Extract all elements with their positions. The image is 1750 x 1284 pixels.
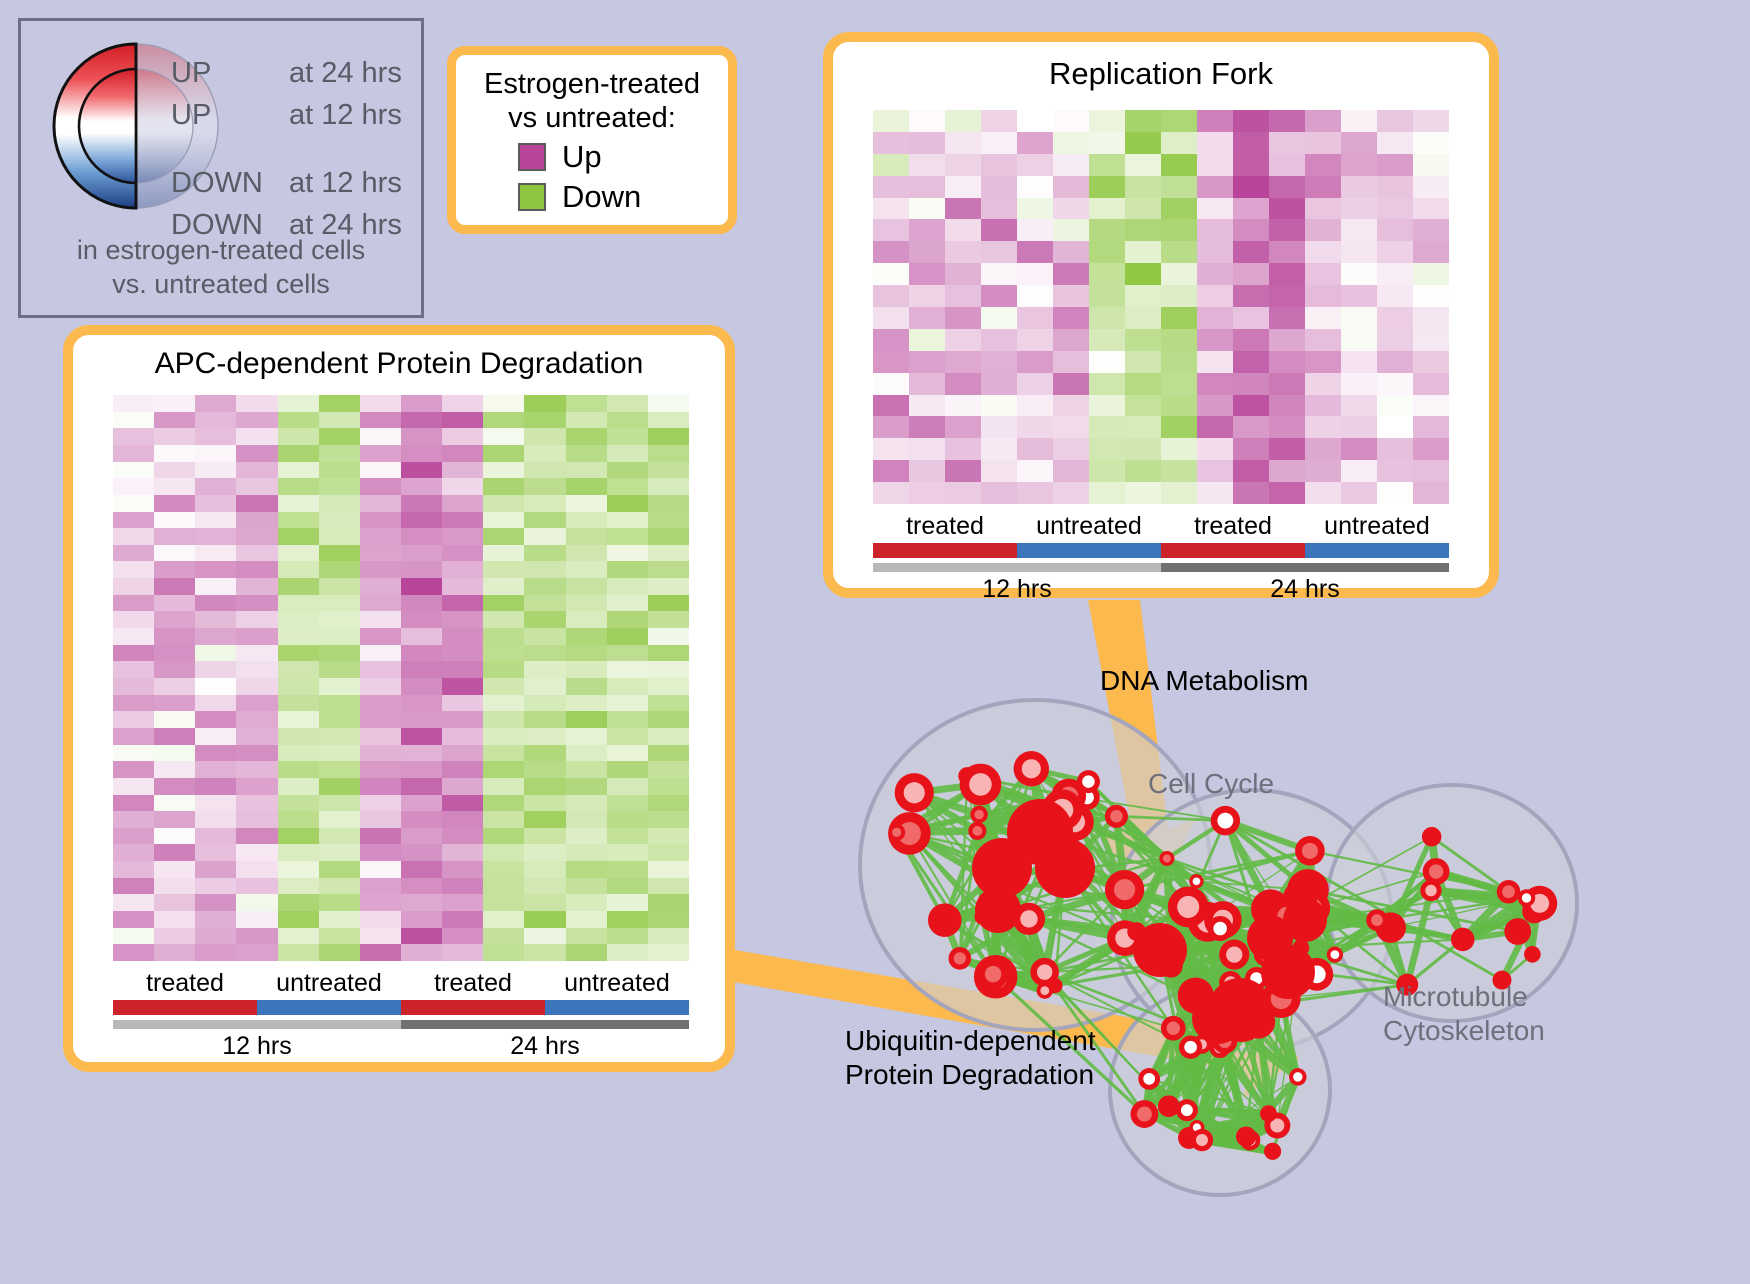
heatmap-cell bbox=[648, 578, 689, 595]
heatmap-cell bbox=[483, 445, 524, 462]
heatmap-cell bbox=[113, 595, 154, 612]
heatmap-cell bbox=[195, 745, 236, 762]
heatmap-cell bbox=[1233, 395, 1269, 417]
heatmap-cell bbox=[1197, 198, 1233, 220]
heatmap-cell bbox=[319, 395, 360, 412]
axis-time-label: 24 hrs bbox=[1161, 575, 1449, 604]
heatmap-cell bbox=[1161, 329, 1197, 351]
heatmap-cell bbox=[319, 778, 360, 795]
heatmap-cell bbox=[483, 678, 524, 695]
heatmap-cell bbox=[360, 661, 401, 678]
heatmap-cell bbox=[360, 412, 401, 429]
heatmap-cell bbox=[442, 878, 483, 895]
heatmap-cell bbox=[401, 711, 442, 728]
heatmap-cell bbox=[113, 445, 154, 462]
heatmap-cell bbox=[1089, 329, 1125, 351]
heatmap-cell bbox=[1233, 482, 1269, 504]
heatmap-cell bbox=[154, 695, 195, 712]
heatmap-cell bbox=[483, 795, 524, 812]
heatmap-cell bbox=[566, 695, 607, 712]
heatmap-cell bbox=[236, 878, 277, 895]
heatmap-cell bbox=[1017, 154, 1053, 176]
key-footer-line-1: in estrogen-treated cells bbox=[21, 233, 421, 267]
heatmap-cell bbox=[1377, 351, 1413, 373]
heatmap-cell bbox=[1017, 395, 1053, 417]
heatmap-cell bbox=[154, 545, 195, 562]
heatmap-cell bbox=[566, 711, 607, 728]
legend-label-down: Down bbox=[562, 179, 641, 215]
heatmap-cell bbox=[566, 878, 607, 895]
heatmap-cell bbox=[1053, 198, 1089, 220]
heatmap-cell bbox=[442, 728, 483, 745]
heatmap-cell bbox=[1125, 416, 1161, 438]
heatmap-cell bbox=[1233, 416, 1269, 438]
network-node-core bbox=[892, 828, 901, 837]
heatmap-cell bbox=[607, 578, 648, 595]
heatmap-cell bbox=[154, 428, 195, 445]
heatmap-cell bbox=[909, 263, 945, 285]
heatmap-cell bbox=[1089, 110, 1125, 132]
network-graph bbox=[800, 620, 1750, 1279]
heatmap-cell bbox=[1377, 482, 1413, 504]
heatmap-cell bbox=[195, 678, 236, 695]
heatmap-cell bbox=[401, 561, 442, 578]
heatmap-cell bbox=[1125, 263, 1161, 285]
network-node-core bbox=[1241, 1131, 1252, 1142]
axis-group-label: treated bbox=[873, 512, 1017, 541]
heatmap-cell bbox=[195, 611, 236, 628]
heatmap-cell bbox=[1377, 460, 1413, 482]
heatmap-cell bbox=[483, 611, 524, 628]
heatmap-cell bbox=[195, 928, 236, 945]
heatmap-cell bbox=[981, 482, 1017, 504]
heatmap-cell bbox=[195, 894, 236, 911]
heatmap-cell bbox=[1233, 132, 1269, 154]
heatmap-cell bbox=[360, 611, 401, 628]
heatmap-cell bbox=[236, 928, 277, 945]
heatmap-cell bbox=[1377, 154, 1413, 176]
heatmap-cell bbox=[195, 478, 236, 495]
heatmap-cell bbox=[483, 561, 524, 578]
heatmap-cell bbox=[607, 678, 648, 695]
cluster-label-line-2: Protein Degradation bbox=[845, 1058, 1096, 1092]
heatmap-cell bbox=[1269, 329, 1305, 351]
network-node bbox=[1133, 923, 1187, 977]
heatmap-cell bbox=[1053, 307, 1089, 329]
heatmap-cell bbox=[1053, 460, 1089, 482]
heatmap-cell bbox=[401, 761, 442, 778]
heatmap-cell bbox=[195, 578, 236, 595]
heatmap-cell bbox=[113, 745, 154, 762]
heatmap-cell bbox=[648, 745, 689, 762]
heatmap-cell bbox=[1233, 219, 1269, 241]
heatmap-cell bbox=[319, 878, 360, 895]
heatmap-cell bbox=[1377, 110, 1413, 132]
heatmap-cell bbox=[401, 661, 442, 678]
heatmap-cell bbox=[1413, 176, 1449, 198]
heatmap-cell bbox=[113, 428, 154, 445]
key-direction-label: DOWN bbox=[171, 167, 289, 200]
heatmap-cell bbox=[195, 595, 236, 612]
heatmap-cell bbox=[278, 828, 319, 845]
heatmap-cell bbox=[566, 428, 607, 445]
heatmap-cell bbox=[113, 478, 154, 495]
heatmap-cell bbox=[154, 778, 195, 795]
heatmap-cell bbox=[873, 110, 909, 132]
network-node-core bbox=[1114, 879, 1135, 900]
heatmap-cell bbox=[483, 578, 524, 595]
heatmap-cell bbox=[483, 711, 524, 728]
heatmap-cell bbox=[607, 778, 648, 795]
heatmap-cell bbox=[945, 263, 981, 285]
heatmap-cell bbox=[154, 445, 195, 462]
heatmap-cell bbox=[278, 944, 319, 961]
heatmap-cell bbox=[1413, 263, 1449, 285]
heatmap-cell bbox=[195, 695, 236, 712]
heatmap-cell bbox=[278, 795, 319, 812]
heatmap-cell bbox=[1161, 395, 1197, 417]
heatmap-cell bbox=[1305, 329, 1341, 351]
panel-apc-degradation: APC-dependent Protein Degradation treate… bbox=[63, 325, 735, 1072]
heatmap-cell bbox=[981, 395, 1017, 417]
heatmap-cell bbox=[1269, 154, 1305, 176]
heatmap-cell bbox=[648, 911, 689, 928]
heatmap-cell bbox=[483, 745, 524, 762]
heatmap-cell bbox=[909, 482, 945, 504]
network-node-core bbox=[1425, 885, 1437, 897]
heatmap-cell bbox=[909, 132, 945, 154]
heatmap-cell bbox=[236, 695, 277, 712]
heatmap-cell bbox=[236, 761, 277, 778]
heatmap-cell bbox=[566, 645, 607, 662]
heatmap-cell bbox=[1269, 132, 1305, 154]
heatmap-cell bbox=[154, 944, 195, 961]
heatmap-cell bbox=[483, 545, 524, 562]
heatmap-cell bbox=[1017, 110, 1053, 132]
axis-time-bars bbox=[873, 563, 1449, 572]
heatmap-cell bbox=[1305, 176, 1341, 198]
network-node-core bbox=[1302, 843, 1318, 859]
legend-title-line-2: vs untreated: bbox=[456, 101, 728, 135]
heatmap-cell bbox=[195, 761, 236, 778]
heatmap-cell bbox=[566, 944, 607, 961]
heatmap-cell bbox=[981, 285, 1017, 307]
heatmap-cell bbox=[1089, 263, 1125, 285]
heatmap-cell bbox=[236, 462, 277, 479]
heatmap-cell bbox=[1341, 285, 1377, 307]
heatmap-cell bbox=[154, 728, 195, 745]
heatmap-cell bbox=[1413, 416, 1449, 438]
heatmap-cell bbox=[401, 811, 442, 828]
heatmap-cell bbox=[442, 545, 483, 562]
heatmap-cell bbox=[1017, 285, 1053, 307]
heatmap-cell bbox=[1161, 219, 1197, 241]
heatmap-cell bbox=[483, 828, 524, 845]
heatmap-cell bbox=[113, 944, 154, 961]
heatmap-cell bbox=[113, 412, 154, 429]
heatmap-cell bbox=[566, 928, 607, 945]
heatmap-cell bbox=[483, 861, 524, 878]
heatmap-cell bbox=[607, 861, 648, 878]
heatmap-cell bbox=[524, 512, 565, 529]
heatmap-cell bbox=[236, 578, 277, 595]
axis-time-bar bbox=[1161, 563, 1449, 572]
heatmap-cell bbox=[1233, 285, 1269, 307]
legend-item-up: Up bbox=[518, 139, 728, 175]
heatmap-cell bbox=[524, 795, 565, 812]
heatmap-cell bbox=[566, 761, 607, 778]
heatmap-cell bbox=[401, 578, 442, 595]
axis-group-label: treated bbox=[1161, 512, 1305, 541]
heatmap-cell bbox=[607, 478, 648, 495]
key-footer-line-2: vs. untreated cells bbox=[21, 267, 421, 301]
heatmap-cell bbox=[1341, 351, 1377, 373]
heatmap-cell bbox=[483, 395, 524, 412]
network-node-core bbox=[1167, 1022, 1180, 1035]
heatmap-cell bbox=[1233, 329, 1269, 351]
heatmap-cell bbox=[1269, 198, 1305, 220]
heatmap-cell bbox=[1305, 438, 1341, 460]
heatmap-cell bbox=[195, 828, 236, 845]
heatmap-cell bbox=[1377, 285, 1413, 307]
heatmap-cell bbox=[566, 745, 607, 762]
heatmap-cell bbox=[442, 628, 483, 645]
heatmap-cell bbox=[1089, 438, 1125, 460]
heatmap-cell bbox=[1413, 241, 1449, 263]
heatmap-cell bbox=[1341, 263, 1377, 285]
axis-group-label: treated bbox=[113, 969, 257, 998]
heatmap-cell bbox=[1089, 351, 1125, 373]
heatmap-cell bbox=[1161, 285, 1197, 307]
heatmap-cell bbox=[909, 285, 945, 307]
heatmap-cell bbox=[154, 761, 195, 778]
heatmap-cell bbox=[319, 761, 360, 778]
heatmap-cell bbox=[524, 528, 565, 545]
heatmap-cell bbox=[909, 460, 945, 482]
network-node-core bbox=[1213, 922, 1227, 936]
heatmap-cell bbox=[1017, 482, 1053, 504]
heatmap-cell bbox=[442, 578, 483, 595]
heatmap-cell bbox=[278, 894, 319, 911]
heatmap-cell bbox=[360, 528, 401, 545]
heatmap-cell bbox=[319, 495, 360, 512]
network-node-core bbox=[1163, 854, 1171, 862]
heatmap-cell bbox=[236, 512, 277, 529]
panel-replication-fork: Replication Fork treated untreated treat… bbox=[823, 32, 1499, 598]
heatmap-cell bbox=[1305, 241, 1341, 263]
heatmap-cell bbox=[278, 528, 319, 545]
heatmap-cell bbox=[360, 445, 401, 462]
heatmap-cell bbox=[113, 661, 154, 678]
heatmap-cell bbox=[1197, 263, 1233, 285]
heatmap-cell bbox=[278, 711, 319, 728]
key-time-label: at 12 hrs bbox=[289, 99, 402, 132]
heatmap-cell bbox=[278, 911, 319, 928]
heatmap-cell bbox=[278, 745, 319, 762]
heatmap-cell bbox=[524, 894, 565, 911]
heatmap-cell bbox=[278, 728, 319, 745]
heatmap-cell bbox=[319, 928, 360, 945]
cluster-label-cell-cycle: Cell Cycle bbox=[1148, 768, 1274, 800]
heatmap-cell bbox=[401, 844, 442, 861]
heatmap-cell bbox=[1269, 438, 1305, 460]
heatmap-cell bbox=[1017, 132, 1053, 154]
heatmap-cell bbox=[278, 811, 319, 828]
heatmap-cell bbox=[1305, 110, 1341, 132]
heatmap-cell bbox=[1053, 285, 1089, 307]
heatmap-cell bbox=[1341, 241, 1377, 263]
heatmap-cell bbox=[319, 728, 360, 745]
figure-canvas: UP at 24 hrs UP at 12 hrs DOWN at 12 hrs… bbox=[0, 0, 1750, 1279]
heatmap-cell bbox=[483, 428, 524, 445]
heatmap-cell bbox=[1089, 460, 1125, 482]
network-node-core bbox=[1426, 832, 1437, 843]
heatmap-cell bbox=[1341, 132, 1377, 154]
heatmap-cell bbox=[873, 373, 909, 395]
heatmap-cell bbox=[909, 329, 945, 351]
heatmap-cell bbox=[1413, 438, 1449, 460]
heatmap-cell bbox=[1125, 482, 1161, 504]
heatmap-cell bbox=[278, 678, 319, 695]
heatmap-cell bbox=[566, 678, 607, 695]
heatmap-cell bbox=[401, 628, 442, 645]
heatmap-cell bbox=[360, 761, 401, 778]
heatmap-cell bbox=[236, 894, 277, 911]
heatmap-cell bbox=[442, 611, 483, 628]
heatmap-cell bbox=[154, 595, 195, 612]
heatmap-cell bbox=[278, 928, 319, 945]
heatmap-cell bbox=[236, 861, 277, 878]
heatmap-cell bbox=[195, 861, 236, 878]
heatmap-cell bbox=[236, 778, 277, 795]
heatmap-cell bbox=[154, 395, 195, 412]
heatmap-cell bbox=[1053, 373, 1089, 395]
heatmap-cell bbox=[401, 412, 442, 429]
heatmap-cell bbox=[909, 241, 945, 263]
heatmap-cell bbox=[195, 844, 236, 861]
heatmap-cell bbox=[360, 428, 401, 445]
heatmap-cell bbox=[1413, 219, 1449, 241]
heatmap-cell bbox=[945, 329, 981, 351]
heatmap-cell bbox=[442, 462, 483, 479]
heatmap-cell bbox=[1305, 263, 1341, 285]
heatmap-cell bbox=[1161, 482, 1197, 504]
heatmap-cell bbox=[607, 894, 648, 911]
network-node-core bbox=[974, 810, 983, 819]
heatmap-cell bbox=[1125, 198, 1161, 220]
heatmap-cell bbox=[607, 545, 648, 562]
network-node-core bbox=[954, 952, 966, 964]
heatmap-cell bbox=[401, 861, 442, 878]
key-row: UP at 24 hrs bbox=[171, 57, 421, 99]
heatmap-cell bbox=[1161, 176, 1197, 198]
heatmap-cell bbox=[360, 944, 401, 961]
heatmap-cell bbox=[648, 628, 689, 645]
heatmap-cell bbox=[319, 445, 360, 462]
network-node-core bbox=[1510, 924, 1524, 938]
heatmap-cell bbox=[607, 944, 648, 961]
heatmap-cell bbox=[1233, 307, 1269, 329]
heatmap-cell bbox=[442, 944, 483, 961]
heatmap-cell bbox=[566, 828, 607, 845]
heatmap-cell bbox=[607, 428, 648, 445]
heatmap-cell bbox=[319, 628, 360, 645]
heatmap-cell bbox=[1269, 176, 1305, 198]
heatmap-cell bbox=[1377, 416, 1413, 438]
heatmap-cell bbox=[113, 561, 154, 578]
heatmap-cell bbox=[1125, 373, 1161, 395]
heatmap-cell bbox=[319, 611, 360, 628]
heatmap-cell bbox=[945, 416, 981, 438]
legend-title-line-1: Estrogen-treated bbox=[456, 67, 728, 101]
heatmap-cell bbox=[442, 928, 483, 945]
heatmap-cell bbox=[909, 176, 945, 198]
heatmap-cell bbox=[236, 611, 277, 628]
heatmap-cell bbox=[483, 645, 524, 662]
network-node-core bbox=[1456, 933, 1469, 946]
heatmap-cell bbox=[1269, 307, 1305, 329]
heatmap-cell bbox=[566, 628, 607, 645]
heatmap-cell bbox=[1017, 329, 1053, 351]
heatmap-cell bbox=[648, 595, 689, 612]
heatmap-cell bbox=[1053, 482, 1089, 504]
heatmap-cell bbox=[1089, 482, 1125, 504]
heatmap-cell bbox=[1089, 241, 1125, 263]
cluster-label-dna-metabolism: DNA Metabolism bbox=[1100, 665, 1309, 697]
heatmap-cell bbox=[401, 595, 442, 612]
heatmap-cell bbox=[524, 928, 565, 945]
heatmap-cell bbox=[981, 198, 1017, 220]
heatmap-cell bbox=[195, 944, 236, 961]
axis-time-names: 12 hrs 24 hrs bbox=[113, 1032, 689, 1061]
heatmap-cell bbox=[154, 911, 195, 928]
heatmap-cell bbox=[113, 528, 154, 545]
heatmap-cell bbox=[442, 445, 483, 462]
heatmap-cell bbox=[319, 645, 360, 662]
heatmap-cell bbox=[648, 861, 689, 878]
heatmap-cell bbox=[401, 445, 442, 462]
panel-title: APC-dependent Protein Degradation bbox=[73, 347, 725, 381]
heatmap-cell bbox=[154, 861, 195, 878]
heatmap-cell bbox=[607, 462, 648, 479]
heatmap-cell bbox=[1053, 263, 1089, 285]
heatmap-cell bbox=[1125, 154, 1161, 176]
heatmap-cell bbox=[154, 795, 195, 812]
heatmap-cell bbox=[1017, 351, 1053, 373]
heatmap-cell bbox=[442, 512, 483, 529]
network-node-core bbox=[1293, 1072, 1302, 1081]
heatmap-cell bbox=[319, 661, 360, 678]
heatmap-cell bbox=[1413, 307, 1449, 329]
heatmap-cell bbox=[1377, 438, 1413, 460]
heatmap-cell bbox=[607, 595, 648, 612]
heatmap-cell bbox=[1377, 198, 1413, 220]
network-node bbox=[1192, 992, 1244, 1044]
heatmap-cell bbox=[1053, 219, 1089, 241]
heatmap-cell bbox=[981, 132, 1017, 154]
heatmap-cell bbox=[1089, 219, 1125, 241]
heatmap-cell bbox=[278, 395, 319, 412]
heatmap-cell bbox=[1161, 373, 1197, 395]
heatmap-cell bbox=[524, 478, 565, 495]
network-node-core bbox=[936, 911, 954, 929]
key-row: DOWN at 12 hrs bbox=[171, 167, 421, 209]
heatmap-cell bbox=[945, 154, 981, 176]
heatmap-cell bbox=[442, 745, 483, 762]
heatmap-cell bbox=[1377, 176, 1413, 198]
heatmap-cell bbox=[524, 728, 565, 745]
heatmap-cell bbox=[360, 462, 401, 479]
